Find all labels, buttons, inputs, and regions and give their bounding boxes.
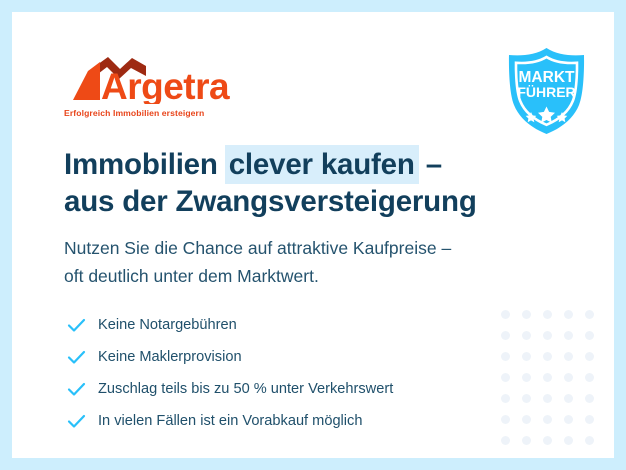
dot [522,331,531,340]
subheading-line1: Nutzen Sie die Chance auf attraktive Kau… [64,234,584,262]
dot [564,394,573,403]
dot [543,331,552,340]
banner-card: Argetra Erfolgreich Immobilien ersteiger… [12,12,614,458]
list-item-label: Keine Maklerprovision [94,349,242,365]
dot [564,373,573,382]
dot [585,373,594,382]
list-item-label: In vielen Fällen ist ein Vorabkauf mögli… [94,413,362,429]
dot [543,352,552,361]
dot [585,436,594,445]
check-mark-icon [66,347,94,368]
subheading: Nutzen Sie die Chance auf attraktive Kau… [64,234,584,290]
dot [564,331,573,340]
dot [585,415,594,424]
dot [501,436,510,445]
market-leader-badge: MARKT FÜHRER [499,43,594,138]
dot [564,352,573,361]
dot [543,415,552,424]
benefits-checklist: Keine Notargebühren Keine Maklerprovisio… [66,309,393,437]
dot [501,394,510,403]
shield-badge-icon: MARKT FÜHRER [499,43,594,138]
dot [522,415,531,424]
dot [564,415,573,424]
dot [543,436,552,445]
dot [585,310,594,319]
list-item: Zuschlag teils bis zu 50 % unter Verkehr… [66,373,393,405]
list-item: Keine Maklerprovision [66,341,393,373]
dot [585,331,594,340]
dot-grid-pattern [501,310,606,457]
badge-line2-text: FÜHRER [517,84,575,100]
check-mark-icon [66,379,94,400]
headline-part1: Immobilien [64,148,226,181]
dot [501,373,510,382]
headline-highlight: clever kaufen [225,145,419,184]
dot [501,331,510,340]
dot [501,352,510,361]
subheading-line2: oft deutlich unter dem Marktwert. [64,262,584,290]
list-item: Keine Notargebühren [66,309,393,341]
dot [543,373,552,382]
list-item: In vielen Fällen ist ein Vorabkauf mögli… [66,405,393,437]
dot [585,394,594,403]
page-title: Immobilien clever kaufen – aus der Zwang… [64,146,574,220]
promo-banner: Argetra Erfolgreich Immobilien ersteiger… [0,0,626,470]
headline-part2: – [418,148,442,181]
dot [522,373,531,382]
logo-tagline: Erfolgreich Immobilien ersteigern [64,108,204,118]
argetra-roof-logo-icon: Argetra [64,54,264,104]
list-item-label: Keine Notargebühren [94,317,237,333]
dot [522,352,531,361]
dot [522,394,531,403]
dot [501,415,510,424]
dot [585,352,594,361]
argetra-logo[interactable]: Argetra Erfolgreich Immobilien ersteiger… [64,54,264,126]
list-item-label: Zuschlag teils bis zu 50 % unter Verkehr… [94,381,393,397]
check-mark-icon [66,411,94,432]
dot [564,310,573,319]
dot [501,310,510,319]
dot [543,310,552,319]
dot [522,310,531,319]
check-mark-icon [66,315,94,336]
dot [564,436,573,445]
svg-text:Argetra: Argetra [101,66,230,104]
headline-line2: aus der Zwangsversteigerung [64,183,574,220]
dot [522,436,531,445]
dot [543,394,552,403]
